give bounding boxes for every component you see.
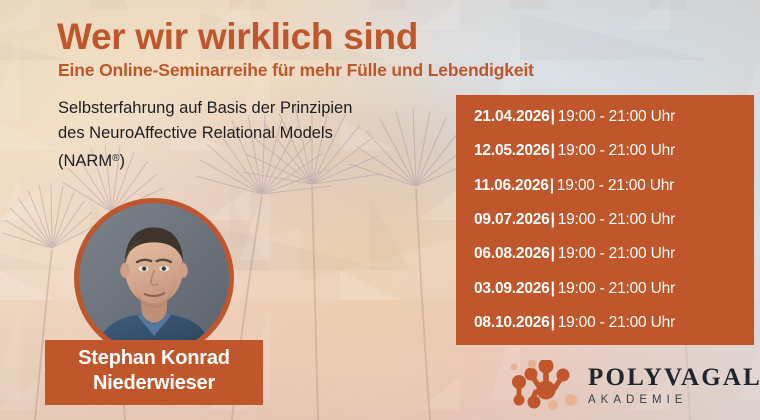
- seminar-banner: Wer wir wirklich sind Eine Online-Semina…: [0, 0, 760, 420]
- date-separator: |: [550, 280, 558, 297]
- speaker-name-line-2: Niederwieser: [45, 371, 263, 396]
- time-value: 19:00 - 21:00 Uhr: [558, 314, 675, 331]
- date-value: 21.04.2026: [474, 108, 550, 125]
- date-value: 09.07.2026: [474, 211, 550, 228]
- brand-logo: POLYVAGAL AKADEMIE: [508, 360, 752, 412]
- dates-panel: 21.04.2026|19:00 - 21:00 Uhr 12.05.2026|…: [456, 95, 754, 345]
- time-value: 19:00 - 21:00 Uhr: [557, 177, 674, 194]
- date-row: 06.08.2026|19:00 - 21:00 Uhr: [474, 245, 754, 263]
- date-value: 08.10.2026: [474, 314, 550, 331]
- description-text: Selbsterfahrung auf Basis der Prinzipien…: [58, 96, 448, 174]
- speaker-name-line-1: Stephan Konrad: [45, 346, 263, 371]
- date-separator: |: [550, 108, 558, 125]
- portrait-photo: [79, 203, 229, 353]
- date-value: 11.06.2026: [474, 177, 549, 194]
- logo-wordmark: POLYVAGAL AKADEMIE: [588, 365, 760, 407]
- date-row: 09.07.2026|19:00 - 21:00 Uhr: [474, 211, 754, 229]
- date-row: 12.05.2026|19:00 - 21:00 Uhr: [474, 142, 754, 160]
- description-line-3: (NARM®): [58, 146, 448, 174]
- time-value: 19:00 - 21:00 Uhr: [558, 108, 675, 125]
- date-row: 21.04.2026|19:00 - 21:00 Uhr: [474, 108, 754, 126]
- date-separator: |: [550, 314, 558, 331]
- avatar: [74, 198, 234, 358]
- logo-name: POLYVAGAL: [588, 365, 760, 390]
- narm-suffix: ): [119, 152, 125, 170]
- time-value: 19:00 - 21:00 Uhr: [558, 211, 675, 228]
- description-line-2: des NeuroAffective Relational Models: [58, 121, 448, 146]
- narm-prefix: (NARM: [58, 152, 112, 170]
- logo-subtitle: AKADEMIE: [588, 395, 760, 407]
- date-row: 11.06.2026|19:00 - 21:00 Uhr: [474, 177, 754, 195]
- date-separator: |: [550, 245, 558, 262]
- date-value: 06.08.2026: [474, 245, 550, 262]
- page-subtitle: Eine Online-Seminarreihe für mehr Fülle …: [58, 60, 534, 81]
- date-row: 08.10.2026|19:00 - 21:00 Uhr: [474, 314, 754, 332]
- time-value: 19:00 - 21:00 Uhr: [558, 245, 675, 262]
- molecule-nodes-icon: [508, 360, 582, 412]
- description-line-1: Selbsterfahrung auf Basis der Prinzipien: [58, 96, 448, 121]
- date-value: 12.05.2026: [474, 142, 550, 159]
- time-value: 19:00 - 21:00 Uhr: [558, 142, 675, 159]
- date-row: 03.09.2026|19:00 - 21:00 Uhr: [474, 280, 754, 298]
- date-separator: |: [550, 211, 558, 228]
- date-separator: |: [550, 142, 558, 159]
- time-value: 19:00 - 21:00 Uhr: [558, 280, 675, 297]
- page-title: Wer wir wirklich sind: [57, 16, 418, 58]
- speaker-name-band: Stephan Konrad Niederwieser: [45, 340, 263, 405]
- date-value: 03.09.2026: [474, 280, 550, 297]
- date-separator: |: [549, 177, 557, 194]
